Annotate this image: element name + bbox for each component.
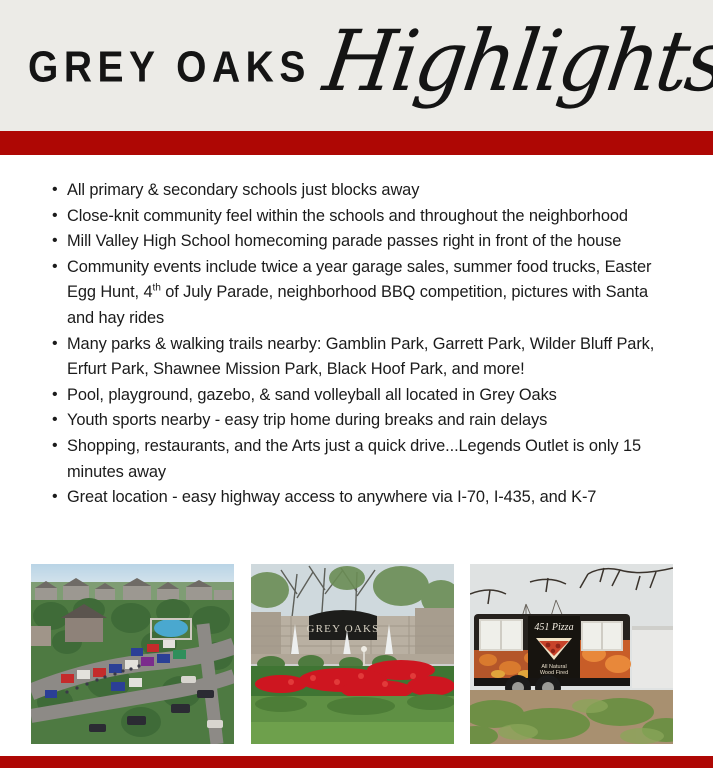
svg-text:GREY OAKS: GREY OAKS	[306, 623, 379, 635]
list-item-text: Great location - easy highway access to …	[67, 488, 596, 506]
list-item: Community events include twice a year ga…	[51, 255, 676, 332]
page-title-main: GREY OAKS	[28, 46, 311, 90]
header-accent-bar	[0, 131, 713, 155]
svg-text:451 Pizza: 451 Pizza	[534, 622, 573, 633]
list-item-text: All primary & secondary schools just blo…	[67, 181, 419, 199]
list-item: All primary & secondary schools just blo…	[51, 178, 676, 204]
list-item-text: Close-knit community feel within the sch…	[67, 207, 628, 225]
list-item: Close-knit community feel within the sch…	[51, 204, 676, 230]
list-item: Great location - easy highway access to …	[51, 485, 676, 511]
svg-text:Wood Fired: Wood Fired	[540, 670, 568, 676]
list-item-text: Shopping, restaurants, and the Arts just…	[67, 437, 641, 481]
list-item-text: Mill Valley High School homecoming parad…	[67, 232, 621, 250]
highlights-list: All primary & secondary schools just blo…	[51, 178, 676, 511]
header-band: GREY OAKS Highlights	[0, 0, 713, 131]
list-item-text: Many parks & walking trails nearby: Gamb…	[67, 335, 654, 379]
list-item: Pool, playground, gazebo, & sand volleyb…	[51, 383, 676, 409]
aerial-neighborhood-event-photo	[31, 564, 234, 744]
list-item: Shopping, restaurants, and the Arts just…	[51, 434, 676, 485]
page-title-script: Highlights	[320, 24, 713, 100]
list-item: Many parks & walking trails nearby: Gamb…	[51, 332, 676, 383]
list-item: Youth sports nearby - easy trip home dur…	[51, 408, 676, 434]
grey-oaks-entrance-monument-photo: GREY OAKS	[251, 564, 454, 744]
flyer-page: GREY OAKS Highlights All primary & secon…	[0, 0, 713, 768]
header-title-group: GREY OAKS Highlights	[28, 0, 701, 131]
list-item-superscript: th	[152, 283, 160, 294]
pizza-food-truck-photo: 451 Pizza All Natural Wood Fired	[470, 564, 673, 744]
photo-gallery: GREY OAKS	[31, 564, 673, 744]
list-item-text: Youth sports nearby - easy trip home dur…	[67, 411, 547, 429]
footer-accent-bar	[0, 756, 713, 768]
list-item-text: Pool, playground, gazebo, & sand volleyb…	[67, 386, 557, 404]
list-item: Mill Valley High School homecoming parad…	[51, 229, 676, 255]
